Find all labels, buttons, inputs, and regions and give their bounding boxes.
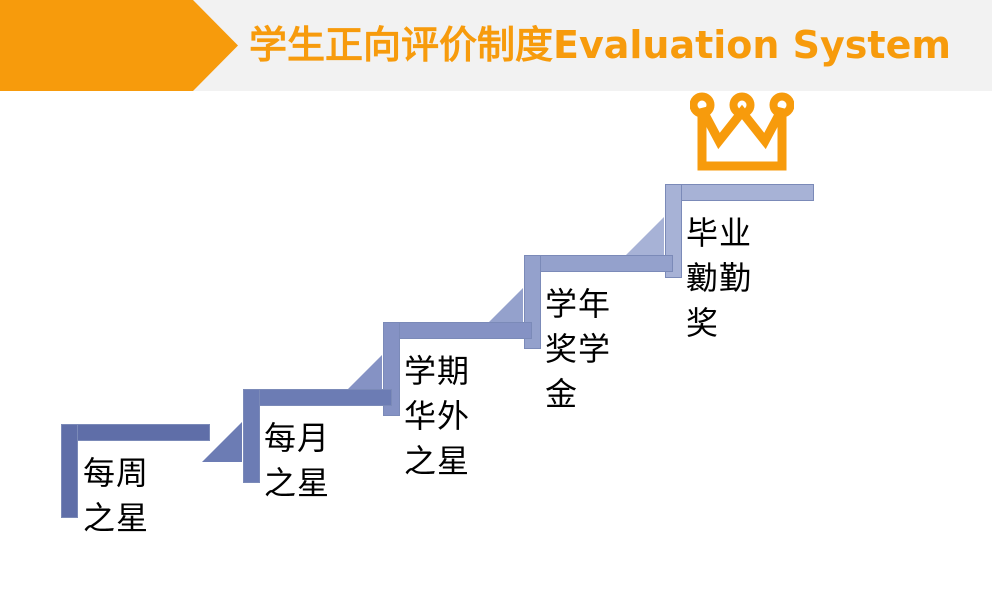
crown-icon: [690, 92, 794, 174]
header-arrow-shape: [0, 0, 238, 91]
slide-canvas: 学生正向评价制度Evaluation System 毕业 勷勤 奖 学年 奖学 …: [0, 0, 992, 606]
step-1[interactable]: 每周 之星: [61, 424, 211, 594]
step-4-label: 学年 奖学 金: [545, 282, 665, 417]
step-5-riser-wedge: [624, 217, 664, 257]
step-2[interactable]: 每月 之星: [202, 389, 392, 559]
step-2-label: 每月 之星: [264, 416, 384, 506]
step-1-tread-bar: [61, 424, 210, 441]
step-2-riser-bar: [243, 389, 260, 483]
right-arrow-pentagon-icon: [0, 0, 238, 91]
step-2-tread-bar: [243, 389, 392, 406]
step-1-riser-bar: [61, 424, 78, 518]
page-title: 学生正向评价制度Evaluation System: [249, 14, 979, 76]
step-4-tread-bar: [524, 255, 673, 272]
step-1-label: 每周 之星: [83, 451, 203, 541]
step-5-tread-bar: [665, 184, 814, 201]
header-band: 学生正向评价制度Evaluation System: [0, 0, 992, 91]
step-3-label: 学期 华外 之星: [404, 349, 524, 484]
step-5-label: 毕业 勷勤 奖: [686, 211, 806, 346]
step-3-tread-bar: [383, 322, 532, 339]
